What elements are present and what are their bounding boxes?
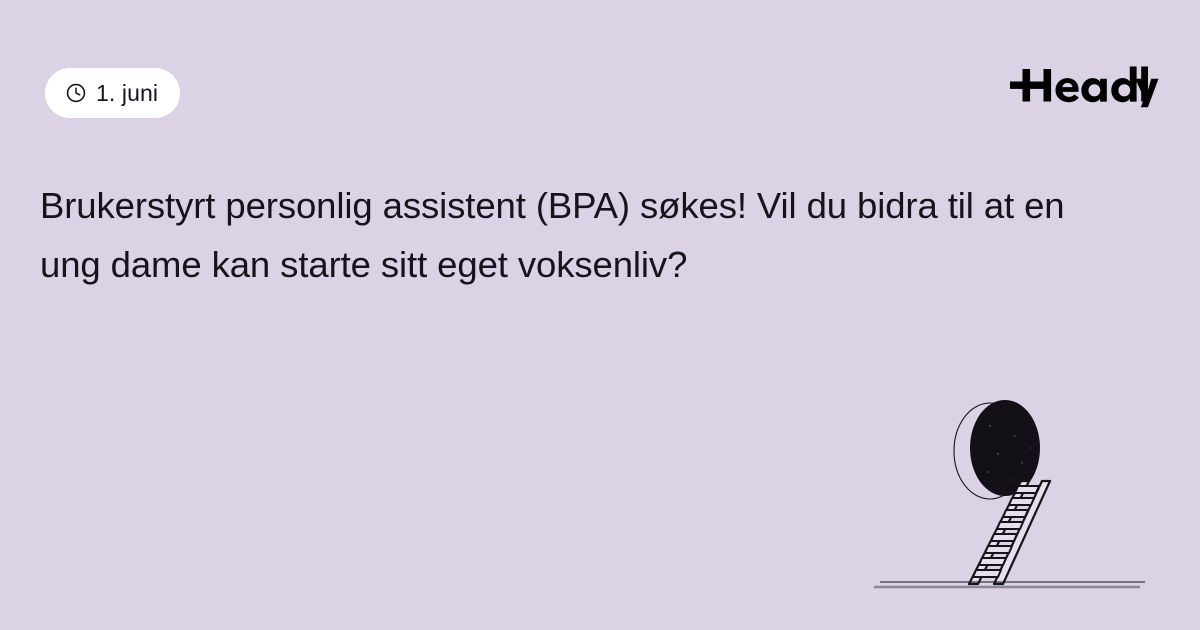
page-title: Brukerstyrt personlig assistent (BPA) sø…: [40, 176, 1100, 294]
ladder: [969, 481, 1050, 584]
date-label: 1. juni: [96, 82, 158, 105]
date-badge: 1. juni: [45, 68, 180, 118]
share-card: 1. juni Brukerstyrt personlig a: [0, 0, 1200, 630]
headly-logo: [1010, 62, 1162, 108]
ladder-into-portal-illustration: [870, 388, 1170, 608]
clock-icon: [65, 82, 87, 104]
